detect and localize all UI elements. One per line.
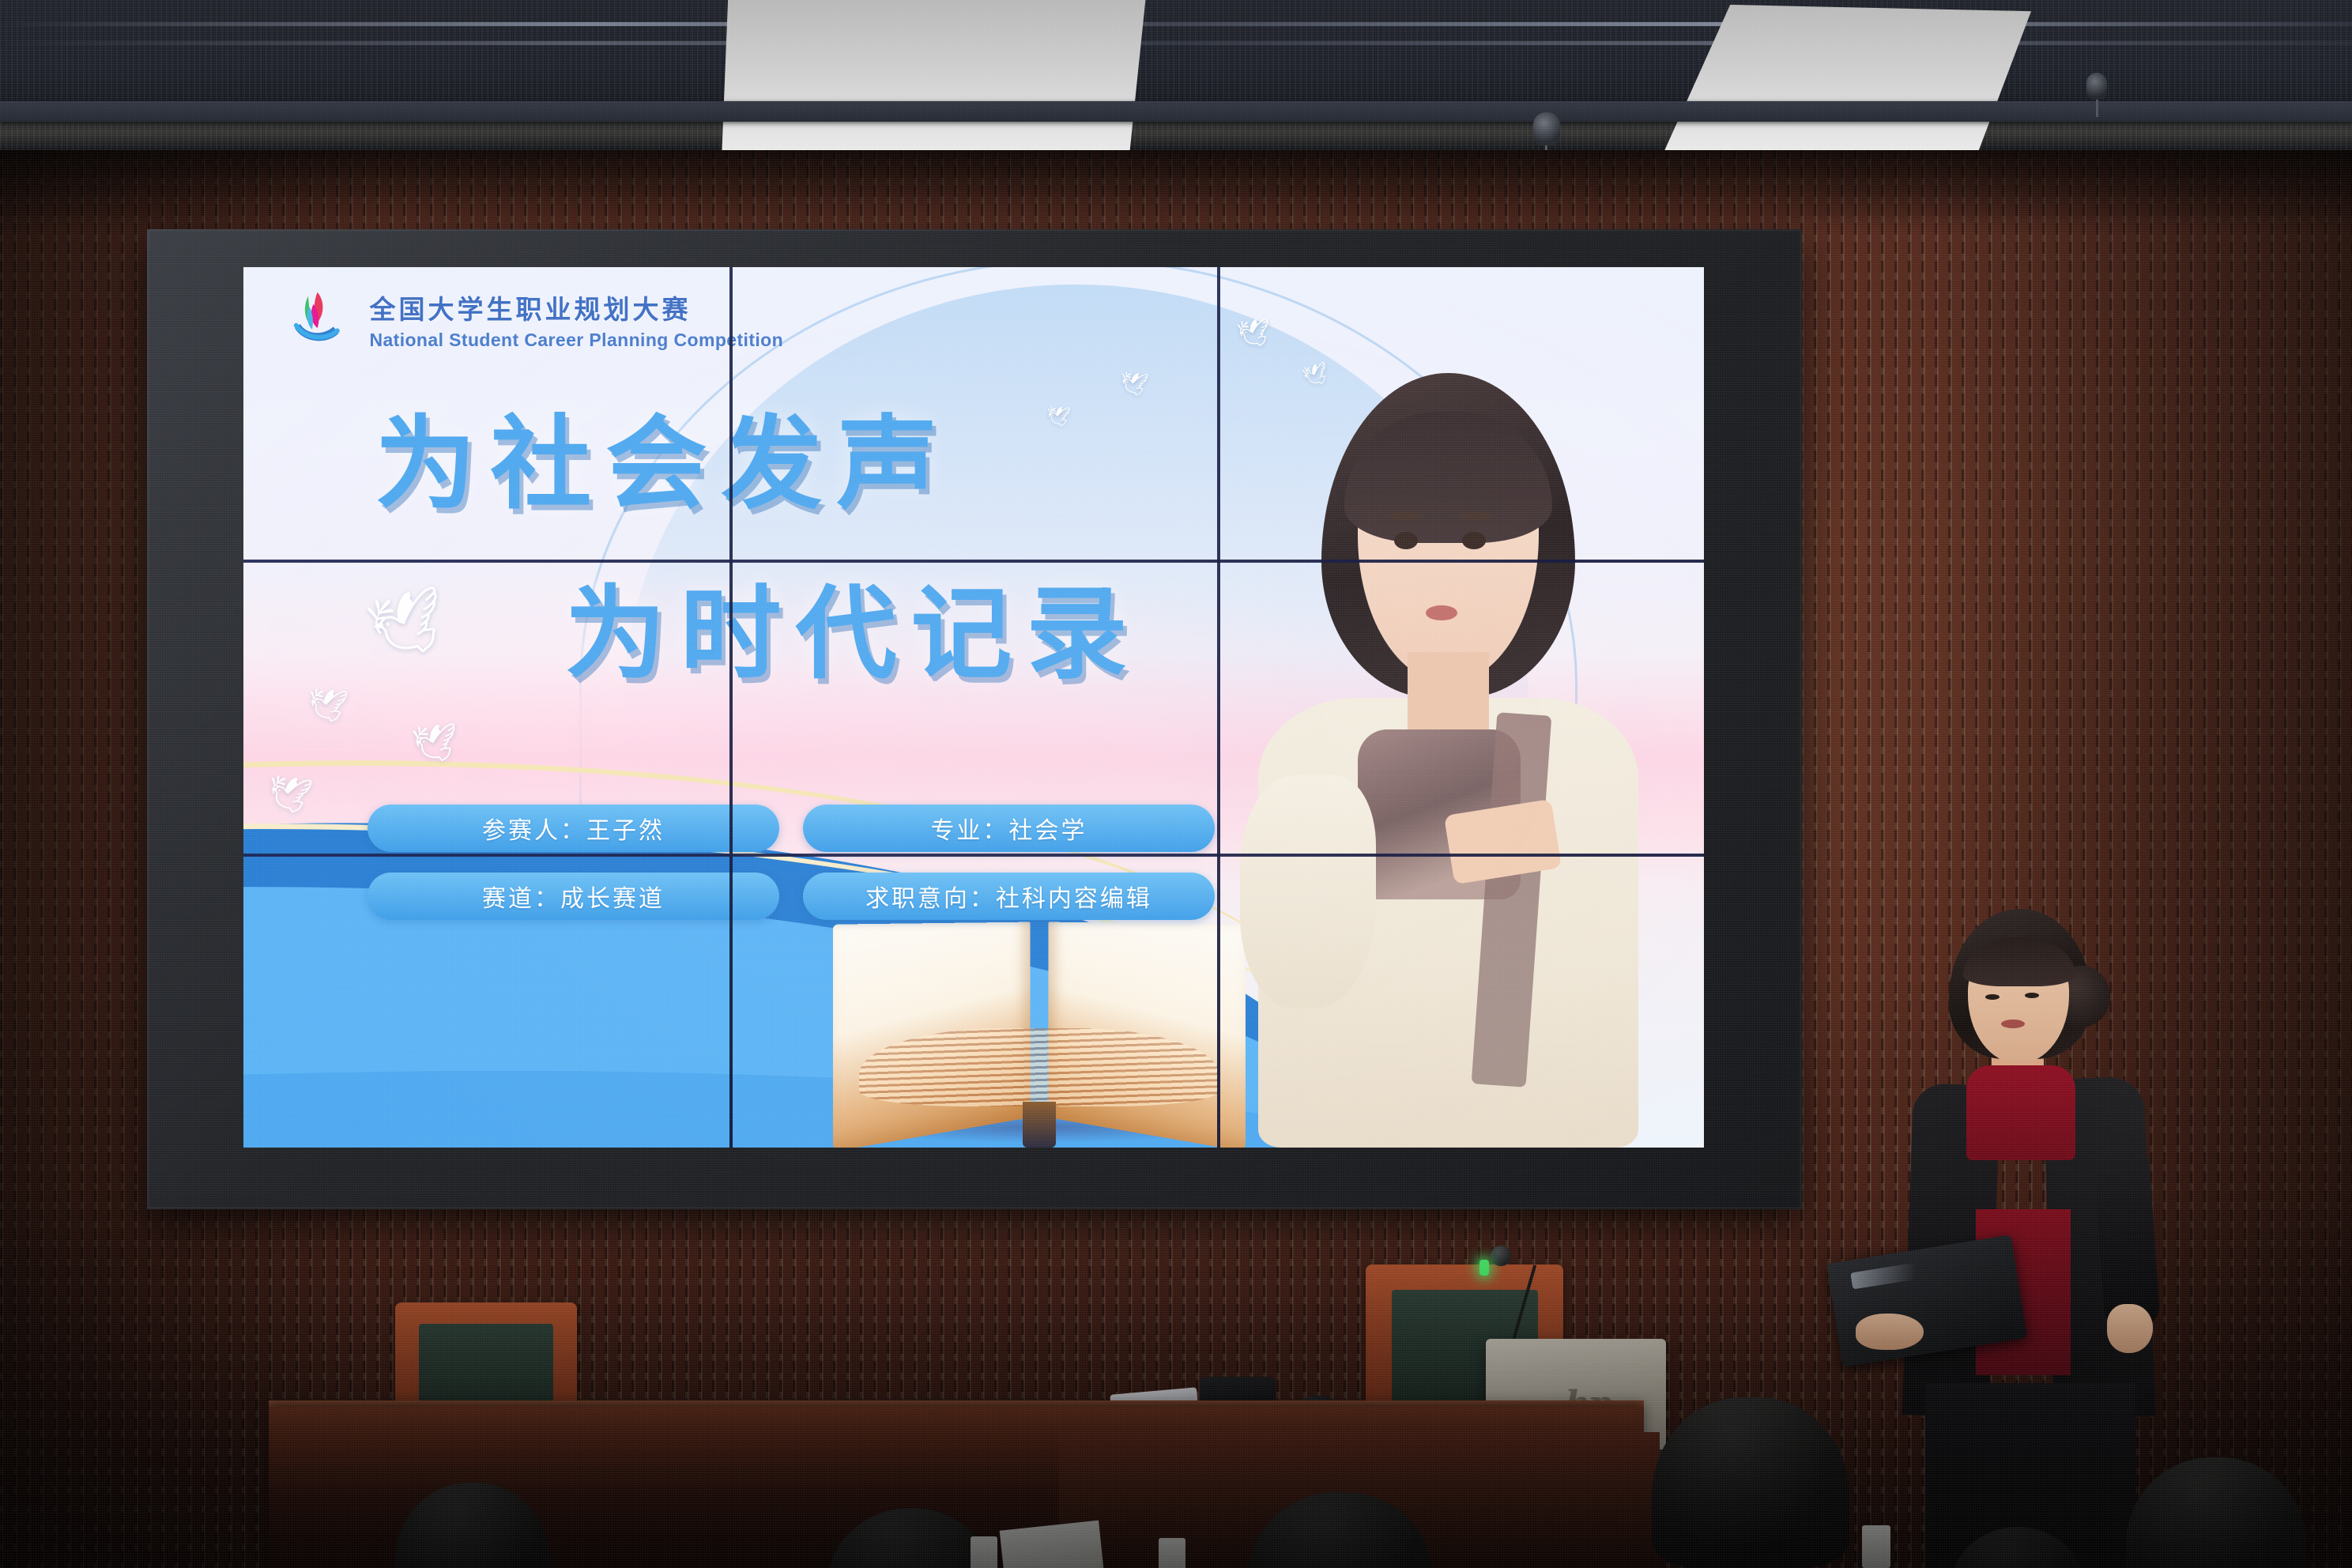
video-wall-seam-horizontal (243, 560, 1704, 563)
pill-track: 赛道：成长赛道 (367, 873, 779, 920)
pill-contestant: 参赛人：王子然 (367, 805, 779, 852)
book-spine (1023, 1102, 1055, 1148)
open-book-graphic (835, 918, 1243, 1148)
slide-title: 为社会发声 为时代记录 (243, 382, 1704, 698)
ceiling-panel-light (715, 0, 1146, 150)
pill-job-intent: 求职意向：社科内容编辑 (803, 873, 1215, 920)
presenter-turtleneck (1966, 1065, 2075, 1160)
presenter-left-hand (1856, 1314, 1924, 1350)
audience-head (1652, 1397, 1849, 1568)
tablet-screen-glint (1851, 1263, 1917, 1289)
ceiling-sensor (2086, 73, 2107, 100)
wall-top-shadow (0, 139, 2352, 234)
screenshot-root: 🕊 🕊 🕊 🕊 🕊 🕊 🕊 🕊 🕊 (0, 0, 2352, 1568)
slide-title-line2: 为时代记录 (565, 552, 1704, 698)
audience-hair (1652, 1397, 1849, 1568)
presenter-right-arm (2093, 1144, 2161, 1329)
mic-status-led (1479, 1260, 1489, 1276)
video-wall-screen[interactable]: 🕊 🕊 🕊 🕊 🕊 🕊 🕊 🕊 🕊 (243, 267, 1704, 1148)
video-wall-seam-vertical (1217, 267, 1220, 1148)
presenter-eye (1985, 994, 2000, 1000)
audience-cup (1159, 1538, 1185, 1568)
presenter-mouth (2001, 1020, 2025, 1028)
video-wall-seam-vertical (729, 267, 733, 1148)
logo-title-en: National Student Career Planning Competi… (369, 330, 783, 351)
video-wall-seam-horizontal (243, 854, 1704, 857)
book-page-edges (859, 1028, 1219, 1106)
logo-text-block: 全国大学生职业规划大赛 National Student Career Plan… (369, 288, 783, 351)
competition-logo: 全国大学生职业规划大赛 National Student Career Plan… (287, 287, 783, 353)
slide-info-pills: 参赛人：王子然 专业：社会学 赛道：成长赛道 求职意向：社科内容编辑 (367, 805, 1215, 920)
bird-icon: 🕊 (1235, 318, 1272, 349)
audience-cup (1862, 1525, 1890, 1568)
presenter (1881, 909, 2181, 1568)
ceiling-beam (0, 101, 2352, 122)
portrait-sleeve (1240, 775, 1376, 1008)
presenter-eye (2025, 993, 2039, 998)
ceiling-sensor (1533, 112, 1560, 145)
video-wall-display[interactable]: 🕊 🕊 🕊 🕊 🕊 🕊 🕊 🕊 🕊 (147, 229, 1802, 1209)
dove-icon: 🕊 (264, 775, 314, 816)
sail-logo-icon (287, 287, 353, 353)
presenter-right-hand (2107, 1304, 2153, 1353)
audience-cup (971, 1536, 997, 1568)
logo-title-cn: 全国大学生职业规划大赛 (369, 288, 783, 326)
dove-icon: 🕊 (410, 723, 458, 763)
mic-head (1491, 1246, 1511, 1266)
slide-title-line1: 为社会发声 (375, 382, 1704, 528)
ceiling (0, 0, 2352, 150)
pill-major: 专业：社会学 (803, 805, 1215, 852)
